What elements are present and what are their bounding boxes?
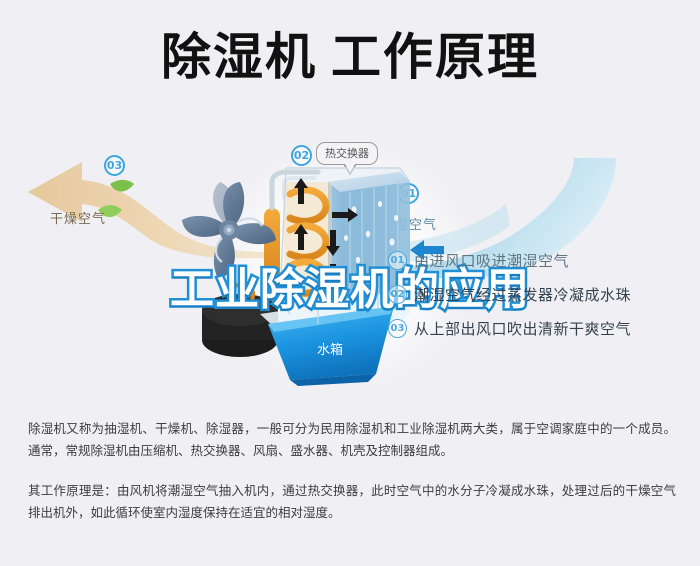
title-part-1: 除湿机 bbox=[161, 28, 317, 86]
list-item: 02 潮湿空气经过蒸发器冷凝成水珠 bbox=[388, 277, 688, 311]
infographic-page: 除湿机工作原理 03 干燥空气 bbox=[0, 0, 700, 566]
badge-03-dry-air: 03 bbox=[104, 155, 125, 176]
step-text: 潮湿空气经过蒸发器冷凝成水珠 bbox=[414, 284, 631, 305]
paragraph-1: 除湿机又称为抽湿机、干燥机、除湿器，一般可分为民用除湿机和工业除湿机两大类，属于… bbox=[28, 418, 676, 462]
dry-air-label: 干燥空气 bbox=[50, 208, 106, 227]
list-item: 01 由进风口吸进潮湿空气 bbox=[388, 243, 688, 277]
description-body: 除湿机又称为抽湿机、干燥机、除湿器，一般可分为民用除湿机和工业除湿机两大类，属于… bbox=[28, 418, 676, 524]
step-number: 02 bbox=[388, 285, 407, 304]
page-title: 除湿机工作原理 bbox=[0, 26, 700, 88]
step-text: 从上部出风口吹出清新干爽空气 bbox=[414, 318, 631, 339]
list-item: 03 从上部出风口吹出清新干爽空气 bbox=[388, 311, 688, 345]
step-number: 03 bbox=[388, 319, 407, 338]
step-number: 01 bbox=[388, 251, 407, 270]
water-tank-label-text: 水箱 bbox=[317, 342, 343, 358]
title-part-2: 工作原理 bbox=[331, 28, 539, 86]
steps-list: 01 由进风口吸进潮湿空气 02 潮湿空气经过蒸发器冷凝成水珠 03 从上部出风… bbox=[388, 243, 688, 345]
paragraph-2: 其工作原理是：由风机将潮湿空气抽入机内，通过热交换器，此时空气中的水分子冷凝成水… bbox=[28, 480, 676, 524]
step-text: 由进风口吸进潮湿空气 bbox=[414, 250, 569, 271]
